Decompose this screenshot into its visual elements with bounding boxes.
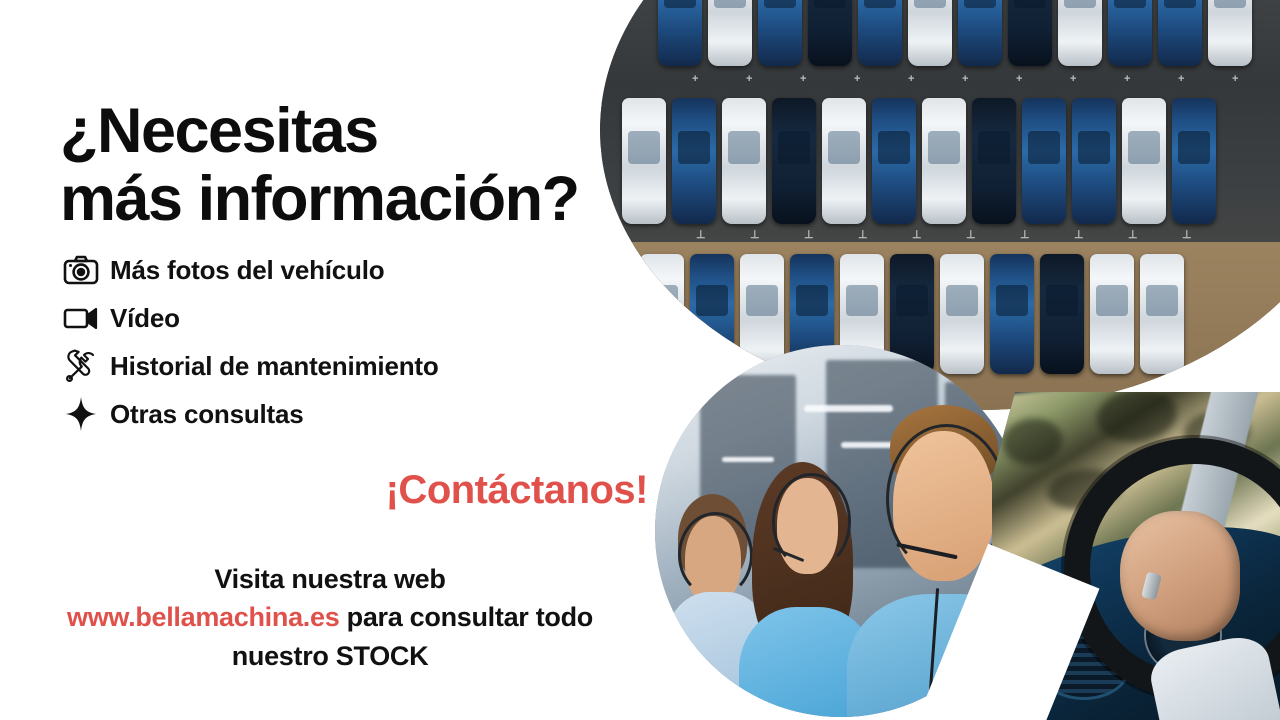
contact-cta-label: ¡Contáctanos! (386, 468, 648, 512)
contact-cta[interactable]: ¡Contáctanos! (0, 468, 648, 513)
tools-wrench-icon (52, 349, 110, 383)
video-camera-icon (52, 305, 110, 331)
list-item: Historial de mantenimiento (52, 342, 652, 390)
website-stock-line: nuestro STOCK (0, 637, 660, 675)
website-intro-line: Visita nuestra web (0, 560, 660, 598)
website-url[interactable]: www.bellamachina.es (67, 602, 339, 632)
feature-list: Más fotos del vehículo Vídeo (52, 246, 652, 438)
website-url-line: www.bellamachina.es para consultar todo (0, 598, 660, 636)
camera-icon (52, 255, 110, 285)
list-item-label: Vídeo (110, 303, 180, 334)
list-item-label: Más fotos del vehículo (110, 255, 384, 286)
list-item: Otras consultas (52, 390, 652, 438)
headline-line-1: ¿Necesitas (60, 96, 378, 166)
promo-poster: + + + + + + + + + + + ⊥ ⊥ ⊥ ⊥ ⊥ ⊥ ⊥ ⊥ ⊥ … (0, 0, 1280, 720)
headline-line-2: más información? (60, 166, 680, 233)
page-title: ¿Necesitas más información? (60, 98, 680, 233)
website-block: Visita nuestra web www.bellamachina.es p… (0, 560, 660, 675)
list-item: Más fotos del vehículo (52, 246, 652, 294)
text-column: ¿Necesitas más información? Más fotos de… (0, 0, 690, 720)
website-url-suffix: para consultar todo (339, 602, 593, 632)
list-item: Vídeo (52, 294, 652, 342)
list-item-label: Historial de mantenimiento (110, 351, 439, 382)
sparkle-icon (52, 397, 110, 431)
list-item-label: Otras consultas (110, 399, 304, 430)
